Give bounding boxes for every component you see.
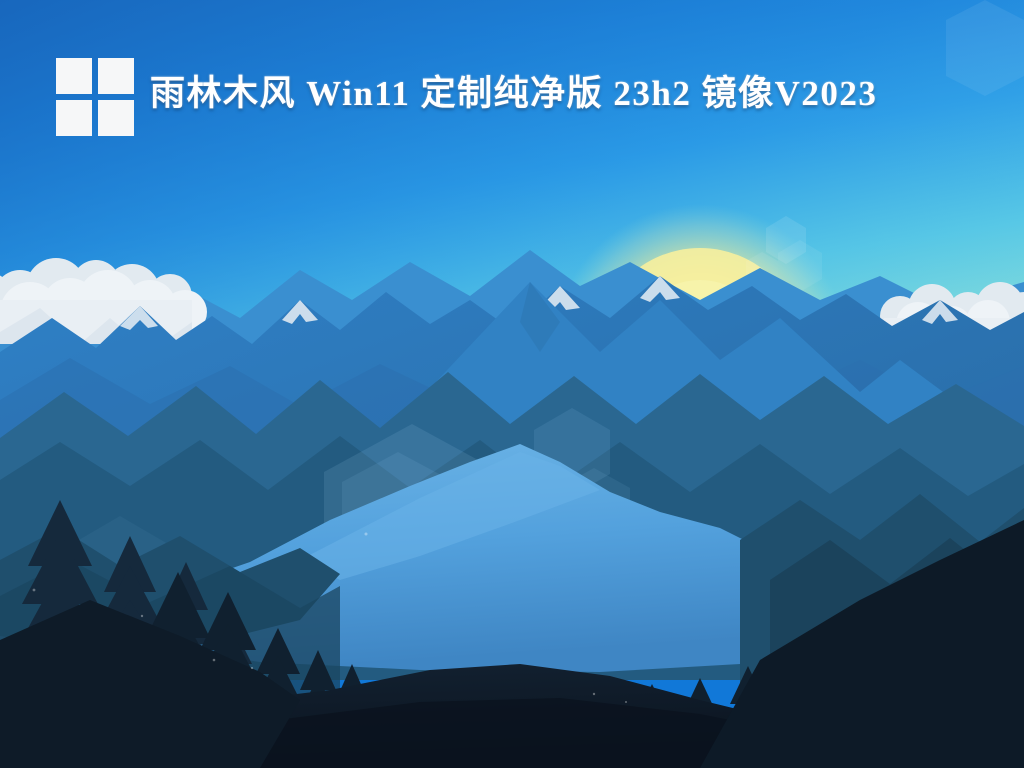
wallpaper-canvas: 雨林木风 Win11 定制纯净版 23h2 镜像V2023 bbox=[0, 0, 1024, 768]
landscape-illustration bbox=[0, 0, 1024, 768]
